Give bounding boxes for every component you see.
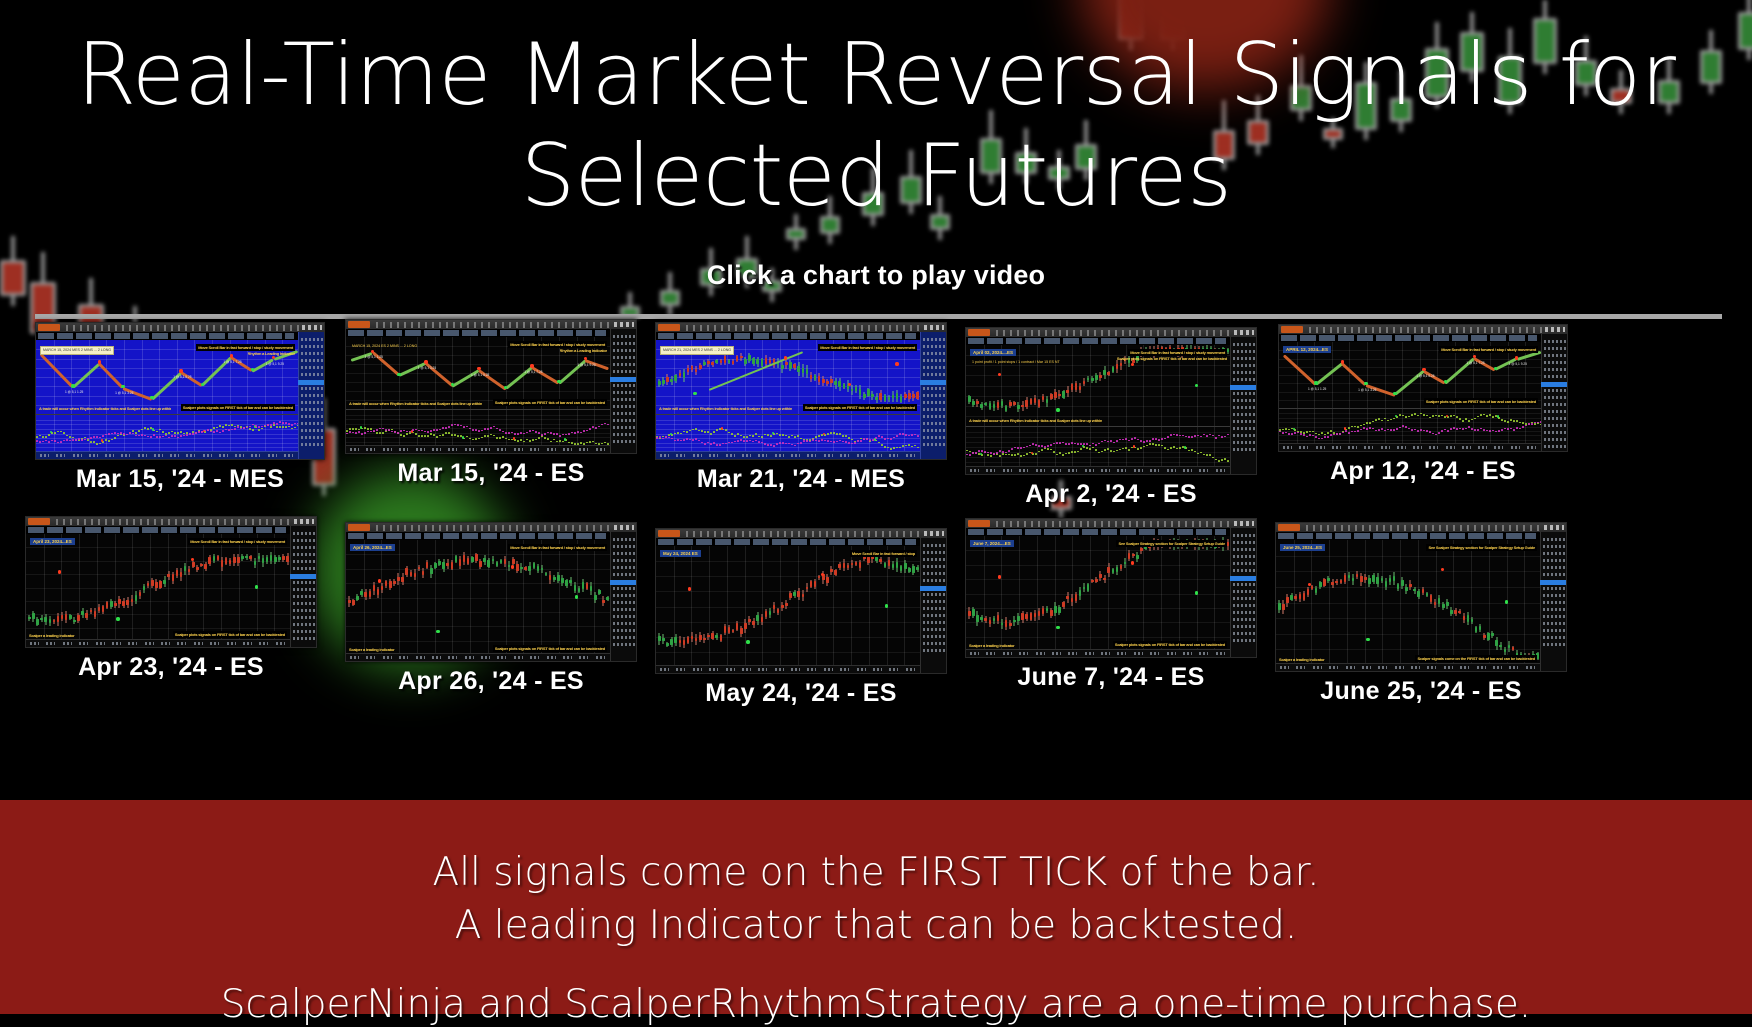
chart-note-bottom-right: Scalper plots signals on FIRST tick of b… [173,631,287,638]
gallery-item[interactable]: May 24, 2024 ESMove Scroll Bar in fast f… [655,528,947,708]
price-pane: June 25, 2024...ESSee Scalper Strategy s… [1276,540,1540,665]
chart-window-titlebar [1279,325,1567,334]
time-axis [966,466,1230,474]
chart-note-right: See Scalper Strategy section for Scalper… [1116,540,1227,547]
chart-toolbar-icons[interactable] [1306,525,1544,531]
window-controls[interactable] [1544,525,1564,530]
chart-legend: 1 point profit / 1 point stops / 1 contr… [970,359,1062,366]
chart-caption: June 7, '24 - ES [965,663,1257,692]
chart-tab[interactable] [1281,326,1303,333]
chart-note-right: Move Scroll Bar in fast forward / stop /… [818,344,917,351]
chart-tab[interactable] [968,329,990,336]
chart-caption: June 25, '24 - ES [1275,677,1567,706]
chart-note-bottom-left: Scalper a leading indicator [1279,657,1325,662]
chart-toolbar-icons[interactable] [686,325,924,331]
indicator-pane [36,415,298,452]
price-axis [610,329,636,453]
chart-date-badge: April 26, 2024...ES [350,544,395,551]
chart-window-titlebar [656,529,946,538]
price-pane: June 7, 2024....ESSee Scalper Strategy s… [966,536,1230,651]
time-axis [26,639,290,647]
chart-caption: May 24, '24 - ES [655,679,947,708]
time-axis [36,451,298,459]
chart-window-titlebar [346,320,636,329]
indicator-pane [1279,409,1541,444]
chart-window-titlebar [346,523,636,532]
price-axis [920,332,946,459]
gallery-item[interactable]: 1 @ 5,1 1.251 @ 5,1 3.251 @ 5,1 5.251 @ … [345,319,637,488]
price-pane: 1 @ 5,1 1.251 @ 5,1 3.251 @ 5,1 5.251 @ … [36,340,298,414]
chart-info-strip [658,333,916,339]
chart-note-sub: Scalper plots signals on FIRST tick of b… [1117,356,1227,361]
window-controls[interactable] [1545,327,1565,332]
chart-thumbnail[interactable]: MARCH 21, 2024 MES 2 MINS ... 2 LONGMove… [655,322,947,460]
chart-window-titlebar [1276,523,1566,532]
chart-legend: MARCH 15, 2024 MES 2 MINS ... 2 LONG [40,346,114,355]
chart-caption: Mar 15, '24 - MES [35,465,325,494]
chart-toolbar-icons[interactable] [996,521,1234,527]
price-axis [610,532,636,661]
chart-thumbnail[interactable]: April 23, 2024...ESMove Scroll Bar in fa… [25,516,317,648]
chart-note-right: Move Scroll Bar in fast forward / stop /… [508,544,607,551]
chart-caption: Apr 2, '24 - ES [965,480,1257,509]
window-controls[interactable] [924,531,944,536]
gallery-item[interactable]: April 26, 2024...ESMove Scroll Bar in fa… [345,522,637,696]
chart-toolbar-icons[interactable] [56,519,294,525]
chart-note-sub: Rhythm a Leading Indicator [560,348,607,353]
window-controls[interactable] [924,325,944,330]
window-controls[interactable] [302,325,322,330]
chart-note-right: Move Scroll Bar in fast forward / stop /… [196,344,295,351]
chart-note-bottom-left: Scalper a leading indicator [969,643,1015,648]
banner-line-3: ScalperNinja and ScalperRhythmStrategy a… [0,982,1752,1027]
time-axis [656,665,920,673]
chart-info-strip [968,529,1226,535]
chart-tab[interactable] [348,321,370,328]
chart-info-strip [28,527,286,533]
chart-note-bottom-left: A trade will occur when Rhythm Indicator… [39,406,171,411]
chart-info-strip [348,533,606,539]
chart-thumbnail[interactable]: April 26, 2024...ESMove Scroll Bar in fa… [345,522,637,662]
chart-tab[interactable] [658,324,680,331]
chart-note-bottom-right: Scalper plots signals on FIRST tick of b… [493,645,607,652]
time-axis [656,451,920,459]
indicator-pane [656,415,920,452]
chart-window-titlebar [26,517,316,526]
banner-line-1: All signals come on the FIRST TICK of th… [0,800,1752,895]
chart-window-titlebar [966,328,1256,337]
chart-info-strip [968,338,1226,344]
indicator-pane [966,427,1230,467]
chart-date-badge: APRIL 12, 2024...ES [1283,346,1331,353]
chart-note-bottom-right: Scalper signals come on the FIRST tick o… [1415,655,1537,662]
price-pane: MARCH 21, 2024 MES 2 MINS ... 2 LONGMove… [656,340,920,414]
chart-tab[interactable] [348,524,370,531]
chart-date-badge: April 02, 2024....ES [970,349,1016,356]
chart-note-sub: Rhythm a Leading Indicator [248,351,295,356]
instruction-subtitle: Click a chart to play video [0,260,1752,291]
chart-toolbar-icons[interactable] [376,525,614,531]
chart-caption: Apr 26, '24 - ES [345,667,637,696]
chart-thumbnail[interactable]: 1 @ 5,1 1.251 @ 5,1 3.251 @ 5,1 5.251 @ … [1278,324,1568,452]
chart-note-bottom-right: Scalper plots signals on FIRST tick of b… [181,404,295,411]
chart-toolbar-icons[interactable] [376,322,614,328]
window-controls[interactable] [614,525,634,530]
gallery-item[interactable]: June 7, 2024....ESSee Scalper Strategy s… [965,518,1257,692]
chart-caption: Apr 12, '24 - ES [1278,457,1568,486]
header-divider [35,314,1722,319]
price-pane: 1 @ 5,1 1.251 @ 5,1 3.251 @ 5,1 5.251 @ … [1279,342,1541,408]
time-axis [346,445,610,453]
chart-note-right: Move Scroll Bar in fast forward / stop /… [188,538,287,545]
window-controls[interactable] [1234,330,1254,335]
price-axis [1230,337,1256,474]
gallery-item[interactable]: 1 @ 5,1 1.251 @ 5,1 3.251 @ 5,1 5.251 @ … [1278,324,1568,486]
chart-note-right: Move Scroll Bar in fast forward / stop /… [1439,346,1538,353]
time-axis [966,649,1230,657]
chart-date-badge: April 23, 2024...ES [30,538,75,545]
chart-thumbnail[interactable]: 1 @ 5,1 1.251 @ 5,1 3.251 @ 5,1 5.251 @ … [35,322,325,460]
chart-note-right: Move Scroll Bar in fast forward / stop /… [508,341,607,348]
chart-thumbnail[interactable]: June 7, 2024....ESSee Scalper Strategy s… [965,518,1257,658]
chart-tab[interactable] [38,324,60,331]
price-axis [920,538,946,673]
chart-window-titlebar [656,323,946,332]
chart-tab[interactable] [968,520,990,527]
chart-note-right: Move Scroll Bar in fast forward / stop /… [1128,349,1227,356]
chart-tab[interactable] [28,518,50,525]
chart-info-strip [1281,335,1537,341]
gallery-item[interactable]: April 02, 2024....ES1 point profit / 1 p… [965,327,1257,509]
time-axis [346,653,610,661]
chart-note-bottom-right: Scalper plots signals on FIRST tick of b… [1113,641,1227,648]
chart-note-right: See Scalper Strategy section for Scalper… [1426,544,1537,551]
chart-date-badge: June 25, 2024...ES [1280,544,1325,551]
chart-toolbar-icons[interactable] [66,325,302,331]
price-pane: 1 @ 5,1 1.251 @ 5,1 3.251 @ 5,1 5.251 @ … [346,337,610,409]
price-axis [298,332,324,459]
banner-line-2: A leading Indicator that can be backtest… [0,903,1752,948]
chart-tab[interactable] [658,530,680,537]
page-title: Real-Time Market Reversal Signals for Se… [0,0,1752,226]
price-pane: April 23, 2024...ESMove Scroll Bar in fa… [26,534,290,641]
chart-note-bottom-right: Scalper plots signals on FIRST tick of b… [1424,398,1538,405]
bottom-banner: All signals come on the FIRST TICK of th… [0,800,1752,1014]
window-controls[interactable] [614,322,634,327]
window-controls[interactable] [294,519,314,524]
chart-info-strip [1278,533,1536,539]
chart-caption: Apr 23, '24 - ES [25,653,317,682]
chart-window-titlebar [36,323,324,332]
chart-note-bottom-left: Scalper a leading indicator [349,647,395,652]
chart-toolbar-icons[interactable] [996,330,1234,336]
chart-toolbar-icons[interactable] [686,531,924,537]
chart-note-bottom-right: Scalper plots signals on FIRST tick of b… [803,404,917,411]
price-axis [1230,528,1256,657]
gallery-item[interactable]: June 25, 2024...ESSee Scalper Strategy s… [1275,522,1567,706]
chart-info-strip [348,330,606,336]
price-pane: April 02, 2024....ES1 point profit / 1 p… [966,345,1230,426]
price-axis [1540,532,1566,671]
gallery-item[interactable]: MARCH 21, 2024 MES 2 MINS ... 2 LONGMove… [655,322,947,494]
chart-note-bottom-left: Scalper a leading indicator [29,633,75,638]
chart-note-bottom-left: A trade will occur when Rhythm Indicator… [659,406,792,411]
chart-toolbar-icons[interactable] [1309,327,1545,333]
chart-thumbnail[interactable]: June 25, 2024...ESSee Scalper Strategy s… [1275,522,1567,672]
chart-note-bottom-right: Scalper plots signals on FIRST tick of b… [493,399,607,406]
chart-window-titlebar [966,519,1256,528]
price-axis [290,526,316,647]
window-controls[interactable] [1234,521,1254,526]
price-pane: April 26, 2024...ESMove Scroll Bar in fa… [346,540,610,655]
chart-date-badge: May 24, 2024 ES [660,550,701,557]
chart-caption: Mar 21, '24 - MES [655,465,947,494]
chart-thumbnail[interactable]: April 02, 2024....ES1 point profit / 1 p… [965,327,1257,475]
gallery-item[interactable]: 1 @ 5,1 1.251 @ 5,1 3.251 @ 5,1 5.251 @ … [35,322,325,494]
time-axis [1276,663,1540,671]
gallery-item[interactable]: April 23, 2024...ESMove Scroll Bar in fa… [25,516,317,682]
chart-legend: MARCH 15, 2024 ES 2 MINS ... 2 LONG [350,343,419,350]
chart-note-bottom-left: A trade will occur when Rhythm Indicator… [969,418,1102,423]
header: Real-Time Market Reversal Signals for Se… [0,0,1752,291]
chart-date-badge: June 7, 2024....ES [970,540,1014,547]
chart-tab[interactable] [1278,524,1300,531]
price-axis [1541,334,1567,451]
chart-caption: Mar 15, '24 - ES [345,459,637,488]
chart-note-bottom-left: A trade will occur when Rhythm Indicator… [349,401,482,406]
chart-info-strip [658,539,916,545]
price-pane: May 24, 2024 ESMove Scroll Bar in fast f… [656,546,920,667]
indicator-pane [346,410,610,446]
chart-legend: MARCH 21, 2024 MES 2 MINS ... 2 LONG [660,346,734,355]
chart-thumbnail[interactable]: 1 @ 5,1 1.251 @ 5,1 3.251 @ 5,1 5.251 @ … [345,319,637,454]
time-axis [1279,443,1541,451]
chart-note-right: Move Scroll Bar in fast forward / stop [850,550,917,557]
chart-info-strip [38,333,294,339]
chart-thumbnail[interactable]: May 24, 2024 ESMove Scroll Bar in fast f… [655,528,947,674]
